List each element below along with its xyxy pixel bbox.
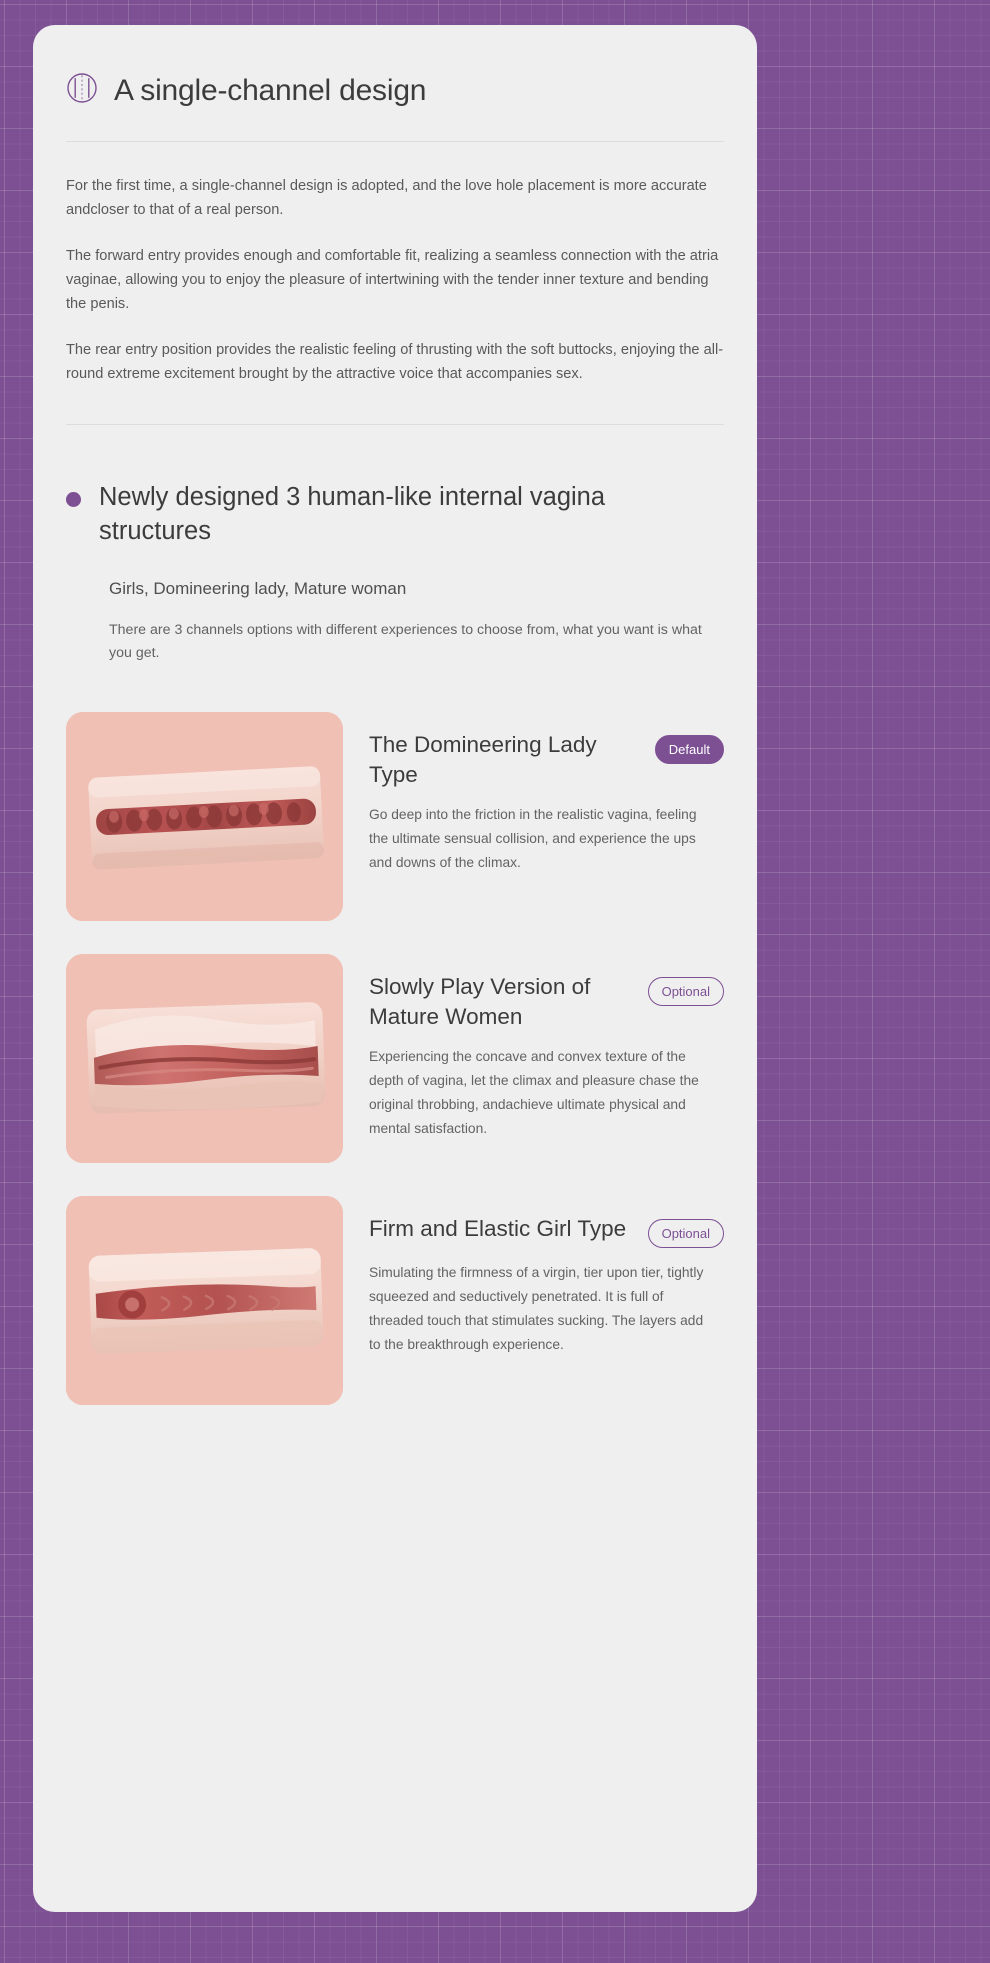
channel-card-list: The Domineering Lady Type Default Go dee… bbox=[66, 665, 724, 1405]
bullet-dot-icon bbox=[66, 492, 81, 507]
channel-card-body: Slowly Play Version of Mature Women Opti… bbox=[369, 954, 724, 1141]
channel-card-title: Slowly Play Version of Mature Women bbox=[369, 972, 636, 1032]
channel-card-header: Slowly Play Version of Mature Women Opti… bbox=[369, 972, 724, 1032]
channel-card-body: The Domineering Lady Type Default Go dee… bbox=[369, 712, 724, 875]
channel-card-description: Go deep into the friction in the realist… bbox=[369, 790, 709, 875]
girl-type-channel-photo bbox=[66, 1196, 343, 1405]
channel-card-body: Firm and Elastic Girl Type Optional Simu… bbox=[369, 1196, 724, 1357]
channel-card[interactable]: Slowly Play Version of Mature Women Opti… bbox=[66, 954, 724, 1163]
channel-card-title: Firm and Elastic Girl Type bbox=[369, 1214, 636, 1244]
channel-card-title: The Domineering Lady Type bbox=[369, 730, 643, 790]
section-heading: Newly designed 3 human-like internal vag… bbox=[66, 425, 724, 549]
status-badge: Default bbox=[655, 735, 724, 764]
status-badge: Optional bbox=[648, 1219, 724, 1248]
section-lead: Girls, Domineering lady, Mature woman bbox=[109, 577, 724, 602]
channel-card-description: Simulating the firmness of a virgin, tie… bbox=[369, 1248, 709, 1357]
intro-paragraph-3: The rear entry position provides the rea… bbox=[66, 338, 724, 386]
channel-card[interactable]: The Domineering Lady Type Default Go dee… bbox=[66, 712, 724, 921]
intro-paragraph-1: For the first time, a single-channel des… bbox=[66, 174, 724, 222]
mature-women-channel-photo bbox=[66, 954, 343, 1163]
intro-paragraph-2: The forward entry provides enough and co… bbox=[66, 244, 724, 316]
single-channel-icon bbox=[66, 72, 98, 109]
status-badge: Optional bbox=[648, 977, 724, 1006]
section-title: Newly designed 3 human-like internal vag… bbox=[99, 480, 659, 549]
intro-copy: For the first time, a single-channel des… bbox=[66, 142, 724, 387]
section-subtext: Girls, Domineering lady, Mature woman Th… bbox=[109, 548, 724, 665]
page-title: A single-channel design bbox=[114, 73, 426, 109]
channel-card-description: Experiencing the concave and convex text… bbox=[369, 1032, 709, 1141]
section-body: There are 3 channels options with differ… bbox=[109, 619, 724, 665]
domineering-lady-channel-photo bbox=[66, 712, 343, 921]
channel-card-header: Firm and Elastic Girl Type Optional bbox=[369, 1214, 724, 1248]
content-sheet: A single-channel design For the first ti… bbox=[33, 25, 757, 1912]
page-header: A single-channel design bbox=[66, 25, 724, 109]
channel-card-header: The Domineering Lady Type Default bbox=[369, 730, 724, 790]
channel-card[interactable]: Firm and Elastic Girl Type Optional Simu… bbox=[66, 1196, 724, 1405]
